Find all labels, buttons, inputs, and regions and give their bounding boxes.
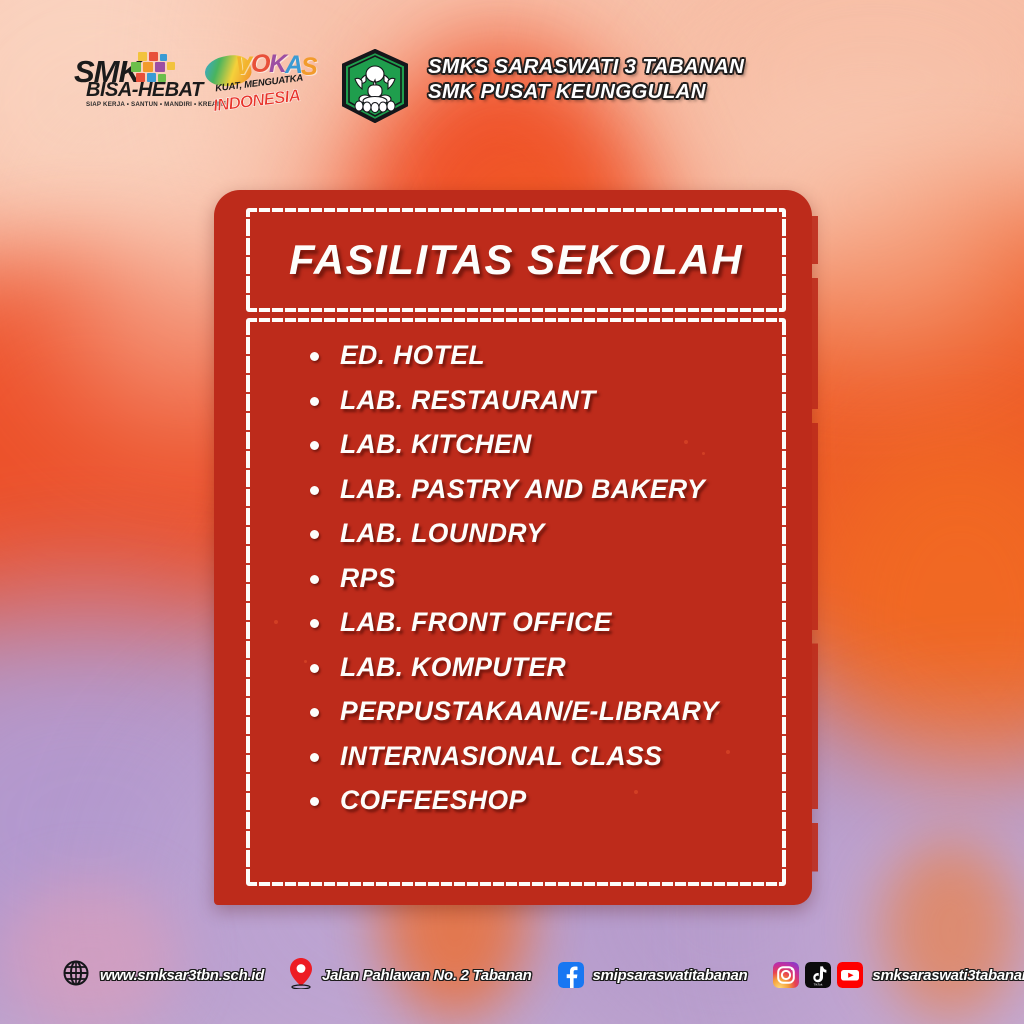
facilities-list: ED. HOTELLAB. RESTAURANTLAB. KITCHENLAB.… bbox=[306, 338, 772, 828]
instagram-icon[interactable] bbox=[773, 962, 799, 988]
facility-item: LAB. PASTRY AND BAKERY bbox=[306, 472, 772, 507]
vokasi-logo: V O K A S KUAT, MENGUATKA INDONESIA bbox=[205, 50, 317, 116]
smk-bisa-hebat-logo: SMK BISA-HEBAT SIAP KERJA • SANTUN • MAN… bbox=[74, 52, 210, 114]
school-name-line2: SMK PUSAT KEUNGGULAN bbox=[428, 79, 744, 104]
school-name-block: SMKS SARASWATI 3 TABANAN SMK PUSAT KEUNG… bbox=[428, 54, 744, 104]
card-title-box: FASILITAS SEKOLAH bbox=[246, 208, 786, 312]
page-header: SMK BISA-HEBAT SIAP KERJA • SANTUN • MAN… bbox=[0, 0, 1024, 140]
website-label: www.smksar3tbn.sch.id bbox=[100, 967, 264, 984]
facility-item: LAB. RESTAURANT bbox=[306, 383, 772, 418]
facility-item: LAB. FRONT OFFICE bbox=[306, 605, 772, 640]
map-pin-icon bbox=[288, 957, 314, 994]
smk-logo-line2: BISA-HEBAT bbox=[86, 79, 203, 102]
tiktok-icon[interactable]: TikTok bbox=[805, 962, 831, 988]
facility-item: LAB. LOUNDRY bbox=[306, 516, 772, 551]
social-handle: smksaraswati3tabanan bbox=[872, 967, 1024, 984]
page-footer: www.smksar3tbn.sch.id Jalan Pahlawan No.… bbox=[0, 946, 1024, 1004]
facebook-handle: smipsaraswatitabanan bbox=[593, 967, 748, 984]
footer-facebook[interactable]: smipsaraswatitabanan bbox=[558, 962, 748, 988]
ganesha-school-emblem-icon bbox=[338, 49, 412, 123]
facility-item: RPS bbox=[306, 561, 772, 596]
facebook-icon[interactable] bbox=[558, 962, 584, 988]
facility-item: ED. HOTEL bbox=[306, 338, 772, 373]
footer-address[interactable]: Jalan Pahlawan No. 2 Tabanan bbox=[288, 957, 531, 994]
facility-item: LAB. KOMPUTER bbox=[306, 650, 772, 685]
school-name-line1: SMKS SARASWATI 3 TABANAN bbox=[428, 54, 744, 79]
facility-item: LAB. KITCHEN bbox=[306, 427, 772, 462]
facilities-card: FASILITAS SEKOLAH ED. HOTELLAB. RESTAURA… bbox=[214, 190, 812, 905]
page-title: FASILITAS SEKOLAH bbox=[250, 212, 782, 308]
facility-item: PERPUSTAKAAN/E-LIBRARY bbox=[306, 694, 772, 729]
footer-social[interactable]: TikTok smksaraswati3tabanan bbox=[773, 962, 1024, 988]
facilities-list-box: ED. HOTELLAB. RESTAURANTLAB. KITCHENLAB.… bbox=[246, 318, 786, 886]
youtube-icon[interactable] bbox=[837, 962, 863, 988]
footer-website[interactable]: www.smksar3tbn.sch.id bbox=[62, 959, 264, 992]
facility-item: INTERNASIONAL CLASS bbox=[306, 739, 772, 774]
address-label: Jalan Pahlawan No. 2 Tabanan bbox=[322, 967, 531, 984]
globe-icon bbox=[62, 959, 90, 992]
facility-item: COFFEESHOP bbox=[306, 783, 772, 818]
tiktok-label: TikTok bbox=[814, 982, 823, 986]
